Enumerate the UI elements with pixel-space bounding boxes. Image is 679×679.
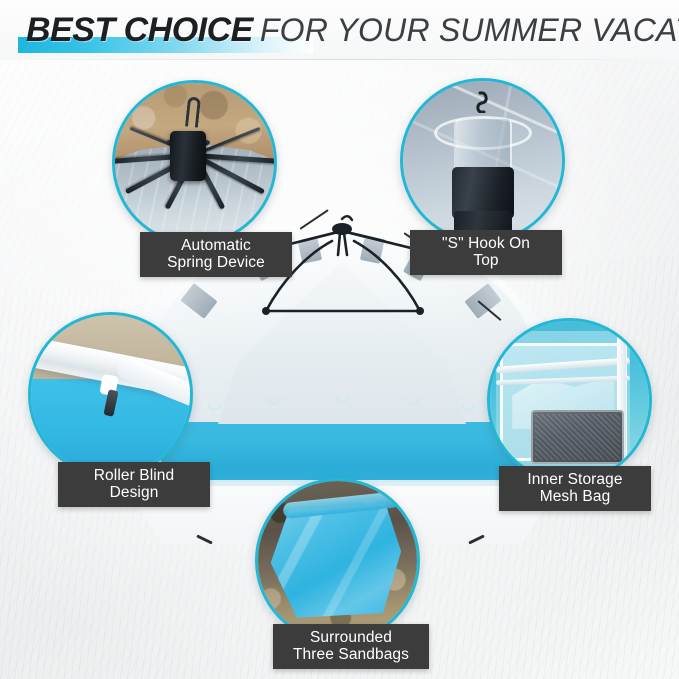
callout-label-line2: Three Sandbags bbox=[293, 646, 409, 663]
callout-label-line2: Mesh Bag bbox=[540, 488, 611, 505]
callout-label-line1: Surrounded bbox=[310, 629, 392, 646]
header-banner: BEST CHOICEFOR YOUR SUMMER VACATION bbox=[0, 0, 679, 60]
stored-item bbox=[531, 410, 623, 464]
mesh-bag-photo bbox=[490, 321, 649, 480]
sandbag-photo bbox=[258, 481, 417, 640]
headline-emphasis: BEST CHOICE bbox=[26, 11, 253, 49]
callout-label-line1: Inner Storage bbox=[527, 471, 622, 488]
callout-label-s-hook-on-top: "S" Hook OnTop bbox=[410, 230, 562, 275]
headline-rest: FOR YOUR SUMMER VACATION bbox=[260, 12, 679, 48]
product-feature-graphic: BEST CHOICEFOR YOUR SUMMER VACATION bbox=[0, 0, 679, 679]
callout-photo-circle bbox=[112, 80, 277, 245]
callout-label-automatic-spring-device: AutomaticSpring Device bbox=[140, 232, 292, 277]
callout-photo-circle bbox=[400, 78, 565, 243]
spring-hub bbox=[170, 131, 206, 181]
callout-label-surrounded-three-sandbags: SurroundedThree Sandbags bbox=[273, 624, 429, 669]
callout-photo-circle bbox=[28, 312, 193, 477]
spring-device-photo bbox=[115, 83, 274, 242]
callout-label-line1: Roller Blind bbox=[94, 467, 174, 484]
callout-inner-storage-mesh-bag[interactable]: Inner StorageMesh Bag bbox=[487, 318, 652, 483]
s-hook-icon bbox=[474, 91, 492, 113]
callout-photo-circle bbox=[487, 318, 652, 483]
callout-label-line1: Automatic bbox=[181, 237, 251, 254]
callout-roller-blind-design[interactable]: Roller BlindDesign bbox=[28, 312, 193, 477]
callout-surrounded-three-sandbags[interactable]: SurroundedThree Sandbags bbox=[255, 478, 420, 643]
roller-blind-photo bbox=[31, 315, 190, 474]
callout-s-hook-on-top[interactable]: "S" Hook OnTop bbox=[400, 78, 565, 243]
header-divider bbox=[0, 59, 679, 60]
callout-label-line2: Spring Device bbox=[167, 254, 265, 271]
callout-label-roller-blind-design: Roller BlindDesign bbox=[58, 462, 210, 507]
page-title: BEST CHOICEFOR YOUR SUMMER VACATION bbox=[26, 11, 679, 56]
callout-label-inner-storage-mesh-bag: Inner StorageMesh Bag bbox=[499, 466, 651, 511]
callout-automatic-spring-device[interactable]: AutomaticSpring Device bbox=[112, 80, 277, 245]
callout-label-line2: Design bbox=[110, 484, 159, 501]
callout-label-line1: "S" Hook On bbox=[442, 235, 530, 252]
callout-label-line2: Top bbox=[473, 252, 498, 269]
blue-sandbag bbox=[271, 503, 401, 617]
callout-photo-circle bbox=[255, 478, 420, 643]
s-hook-photo bbox=[403, 81, 562, 240]
